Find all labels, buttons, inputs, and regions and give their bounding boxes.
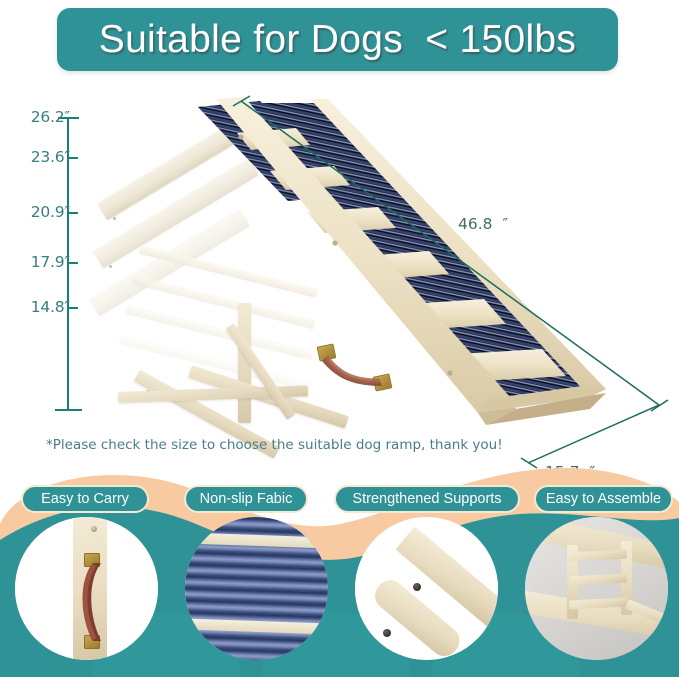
ruler-tick-2: 20.9″ <box>0 203 78 223</box>
handle-leather-strap <box>15 517 158 660</box>
dim-arrow-length-end <box>651 400 668 411</box>
rail-screw-3 <box>447 370 452 375</box>
ruler-tick-0: 26.2″ <box>0 108 78 128</box>
frame-ladder-rung-1 <box>569 549 627 561</box>
feature-pill-non-slip-fabric[interactable]: Non-slip Fabic <box>184 485 308 513</box>
feature-strip: Easy to Carry Non-slip Fabic <box>0 462 679 677</box>
product-infographic: Suitable for Dogs < 150lbs <box>0 0 679 677</box>
size-disclaimer-text: *Please check the size to choose the sui… <box>46 437 503 453</box>
ruler-tick-label: 26.2″ <box>31 108 70 126</box>
ruler-tick-label: 23.6″ <box>31 148 70 166</box>
product-photo <box>80 95 640 440</box>
ruler-tick-1: 23.6″ <box>0 148 78 168</box>
feature-label: Easy to Assemble <box>546 491 661 507</box>
handle-strap-leather <box>318 345 396 391</box>
dimension-length-label: 46.8 ″ <box>458 215 508 233</box>
carpet-texture-photo <box>185 517 328 660</box>
rail-screw-1 <box>238 134 243 139</box>
ramp-deck <box>120 97 620 437</box>
feature-pill-easy-to-carry[interactable]: Easy to Carry <box>21 485 149 513</box>
ruler-tick-mark <box>68 262 78 264</box>
ruler-tick-label: 17.9″ <box>31 253 70 271</box>
feature-photo-support-arm <box>355 517 498 660</box>
ruler-tick-mark <box>68 157 78 159</box>
frame-long-rail <box>525 517 668 572</box>
feature-pill-strengthened-supports[interactable]: Strengthened Supports <box>334 485 520 513</box>
page-title: Suitable for Dogs < 150lbs <box>99 18 576 62</box>
height-ruler: 26.2″ 23.6″ 20.9″ 17.9″ 14.8″ <box>0 100 130 425</box>
frame-ladder-rung-2 <box>569 573 627 585</box>
ruler-tick-4: 14.8″ <box>0 298 78 318</box>
ruler-tick-mark <box>68 212 78 214</box>
ruler-cap-bottom <box>55 409 82 411</box>
rail-screw-2 <box>332 240 337 245</box>
handle-detail-photo <box>15 517 158 660</box>
carry-handle <box>318 345 396 391</box>
feature-label: Strengthened Supports <box>352 491 501 507</box>
ruler-tick-mark <box>68 117 78 119</box>
feature-pill-easy-to-assemble[interactable]: Easy to Assemble <box>534 485 673 513</box>
support-arm-screw-bottom <box>383 629 391 637</box>
support-arm-photo <box>355 517 498 660</box>
feature-photo-frame-assembly <box>525 517 668 660</box>
ruler-tick-mark <box>68 307 78 309</box>
support-arm-screw-top <box>413 583 421 591</box>
feature-label: Non-slip Fabic <box>200 491 293 507</box>
ruler-tick-label: 20.9″ <box>31 203 70 221</box>
feature-label: Easy to Carry <box>41 491 129 507</box>
title-banner: Suitable for Dogs < 150lbs <box>57 8 618 71</box>
feature-photo-carpet-texture <box>185 517 328 660</box>
frame-assembly-photo <box>525 517 668 660</box>
ruler-tick-label: 14.8″ <box>31 298 70 316</box>
feature-photo-handle-detail <box>15 517 158 660</box>
ruler-tick-3: 17.9″ <box>0 253 78 273</box>
